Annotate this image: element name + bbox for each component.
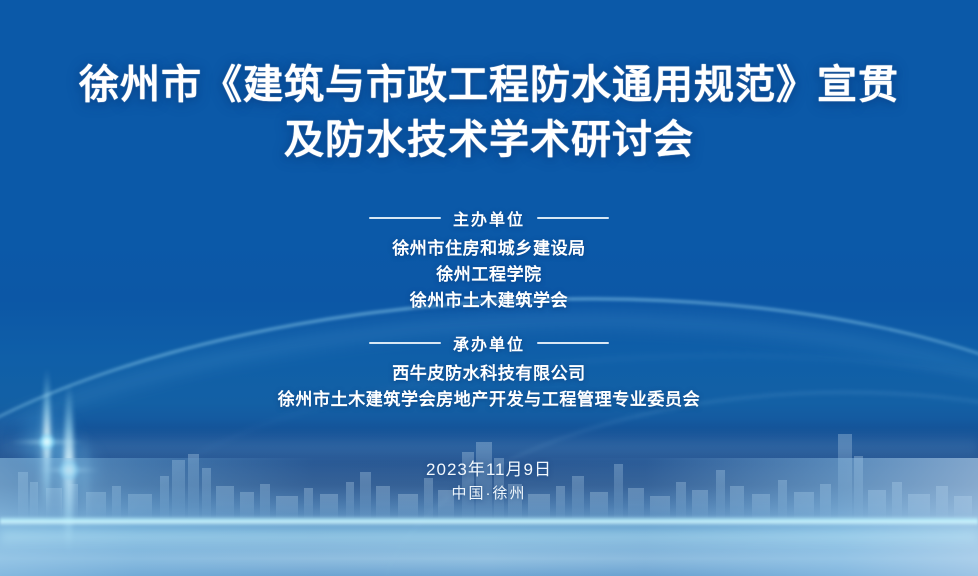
co-host-organization: 西牛皮防水科技有限公司 [278,361,700,387]
banner-content: 徐州市《建筑与市政工程防水通用规范》宣贯 及防水技术学术研讨会 主办单位 徐州市… [0,0,978,576]
host-heading-label: 主办单位 [453,206,525,230]
host-organization: 徐州工程学院 [369,262,609,288]
conference-banner: 徐州市《建筑与市政工程防水通用规范》宣贯 及防水技术学术研讨会 主办单位 徐州市… [0,0,978,576]
co-host-organization: 徐州市土木建筑学会房地产开发与工程管理专业委员会 [278,387,700,413]
host-section-heading: 主办单位 [369,206,609,230]
divider-rule-left-icon [369,217,441,219]
divider-rule-right-icon [537,342,609,344]
host-organization: 徐州市土木建筑学会 [369,288,609,314]
divider-rule-right-icon [537,217,609,219]
title-line-2: 及防水技术学术研讨会 [79,113,899,168]
event-date: 2023年11月9日 [426,457,552,483]
banner-title: 徐州市《建筑与市政工程防水通用规范》宣贯 及防水技术学术研讨会 [79,58,899,168]
co-host-section: 承办单位 西牛皮防水科技有限公司 徐州市土木建筑学会房地产开发与工程管理专业委员… [278,331,700,413]
banner-footer: 2023年11月9日 中国·徐州 [426,457,552,507]
title-line-1: 徐州市《建筑与市政工程防水通用规范》宣贯 [79,58,899,113]
co-host-heading-label: 承办单位 [453,331,525,355]
divider-rule-left-icon [369,342,441,344]
host-organization: 徐州市住房和城乡建设局 [369,236,609,262]
event-location: 中国·徐州 [426,482,552,506]
co-host-section-heading: 承办单位 [278,331,700,355]
host-section: 主办单位 徐州市住房和城乡建设局 徐州工程学院 徐州市土木建筑学会 [369,206,609,313]
